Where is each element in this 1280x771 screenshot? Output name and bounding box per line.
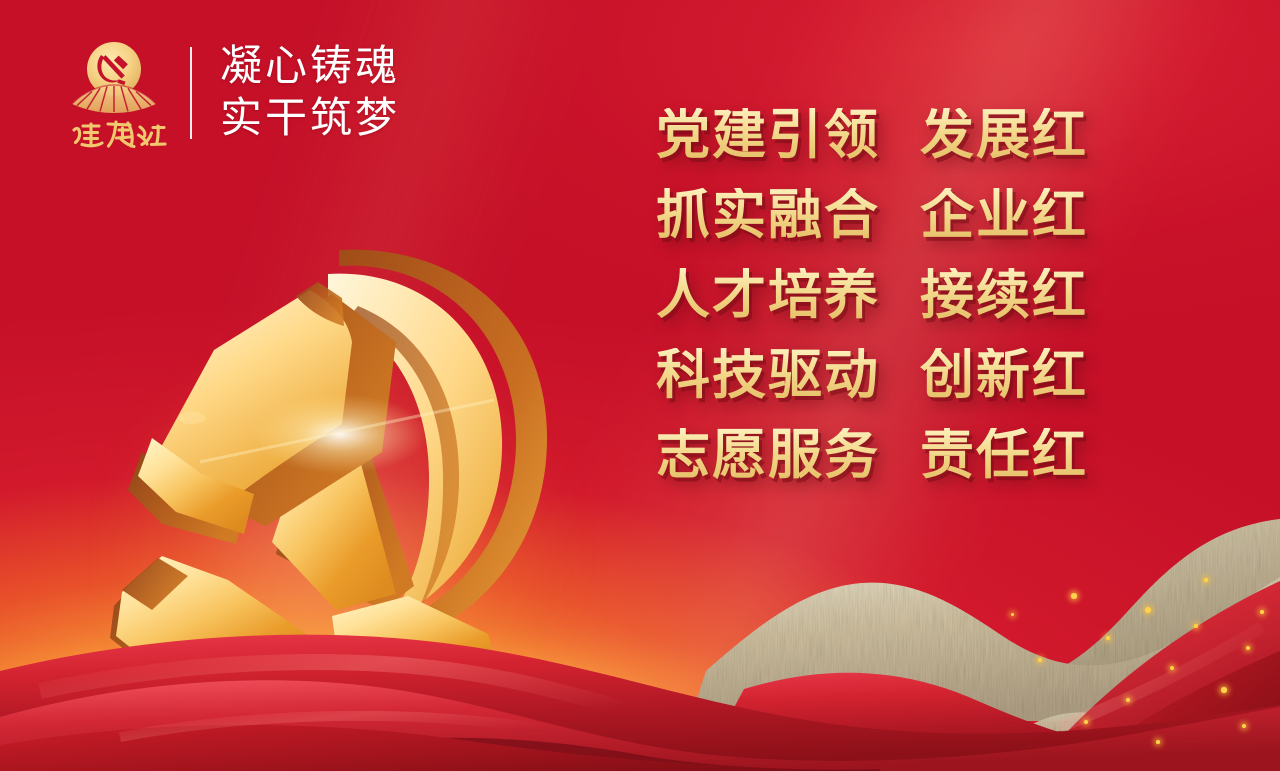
brand-divider [190, 47, 192, 139]
brand-slogan-line-1: 凝心铸魂 [220, 41, 400, 93]
slogan-row: 抓实融合 企业红 [656, 188, 1088, 242]
emblem-flare-dot [178, 412, 206, 424]
slogan-right: 责任红 [920, 428, 1088, 482]
brand-slogan: 凝心铸魂 实干筑梦 [220, 41, 400, 145]
poster-canvas: 凝心铸魂 实干筑梦 [0, 0, 1280, 771]
slogan-right: 创新红 [920, 348, 1088, 402]
slogan-row: 党建引领 发展红 [656, 108, 1088, 162]
slogan-row: 志愿服务 责任红 [656, 428, 1088, 482]
slogan-right: 接续红 [920, 268, 1088, 322]
logo-wordmark-calligraphy [74, 122, 165, 147]
brand-header: 凝心铸魂 实干筑梦 [58, 34, 400, 152]
slogan-row: 科技驱动 创新红 [656, 348, 1088, 402]
slogan-list: 党建引领 发展红 抓实融合 企业红 人才培养 接续红 科技驱动 创新红 志愿服务… [656, 108, 1088, 482]
slogan-left: 科技驱动 [656, 348, 880, 402]
slogan-left: 抓实融合 [656, 188, 880, 242]
tongwei-red-logo [58, 34, 170, 152]
slogan-right: 企业红 [920, 188, 1088, 242]
brand-slogan-line-2: 实干筑梦 [220, 93, 400, 145]
slogan-right: 发展红 [920, 108, 1088, 162]
slogan-left: 志愿服务 [656, 428, 880, 482]
slogan-left: 人才培养 [656, 268, 880, 322]
slogan-row: 人才培养 接续红 [656, 268, 1088, 322]
radiating-fan-icon [72, 85, 156, 113]
slogan-left: 党建引领 [656, 108, 880, 162]
flowing-red-silk-ribbons [0, 521, 1280, 771]
